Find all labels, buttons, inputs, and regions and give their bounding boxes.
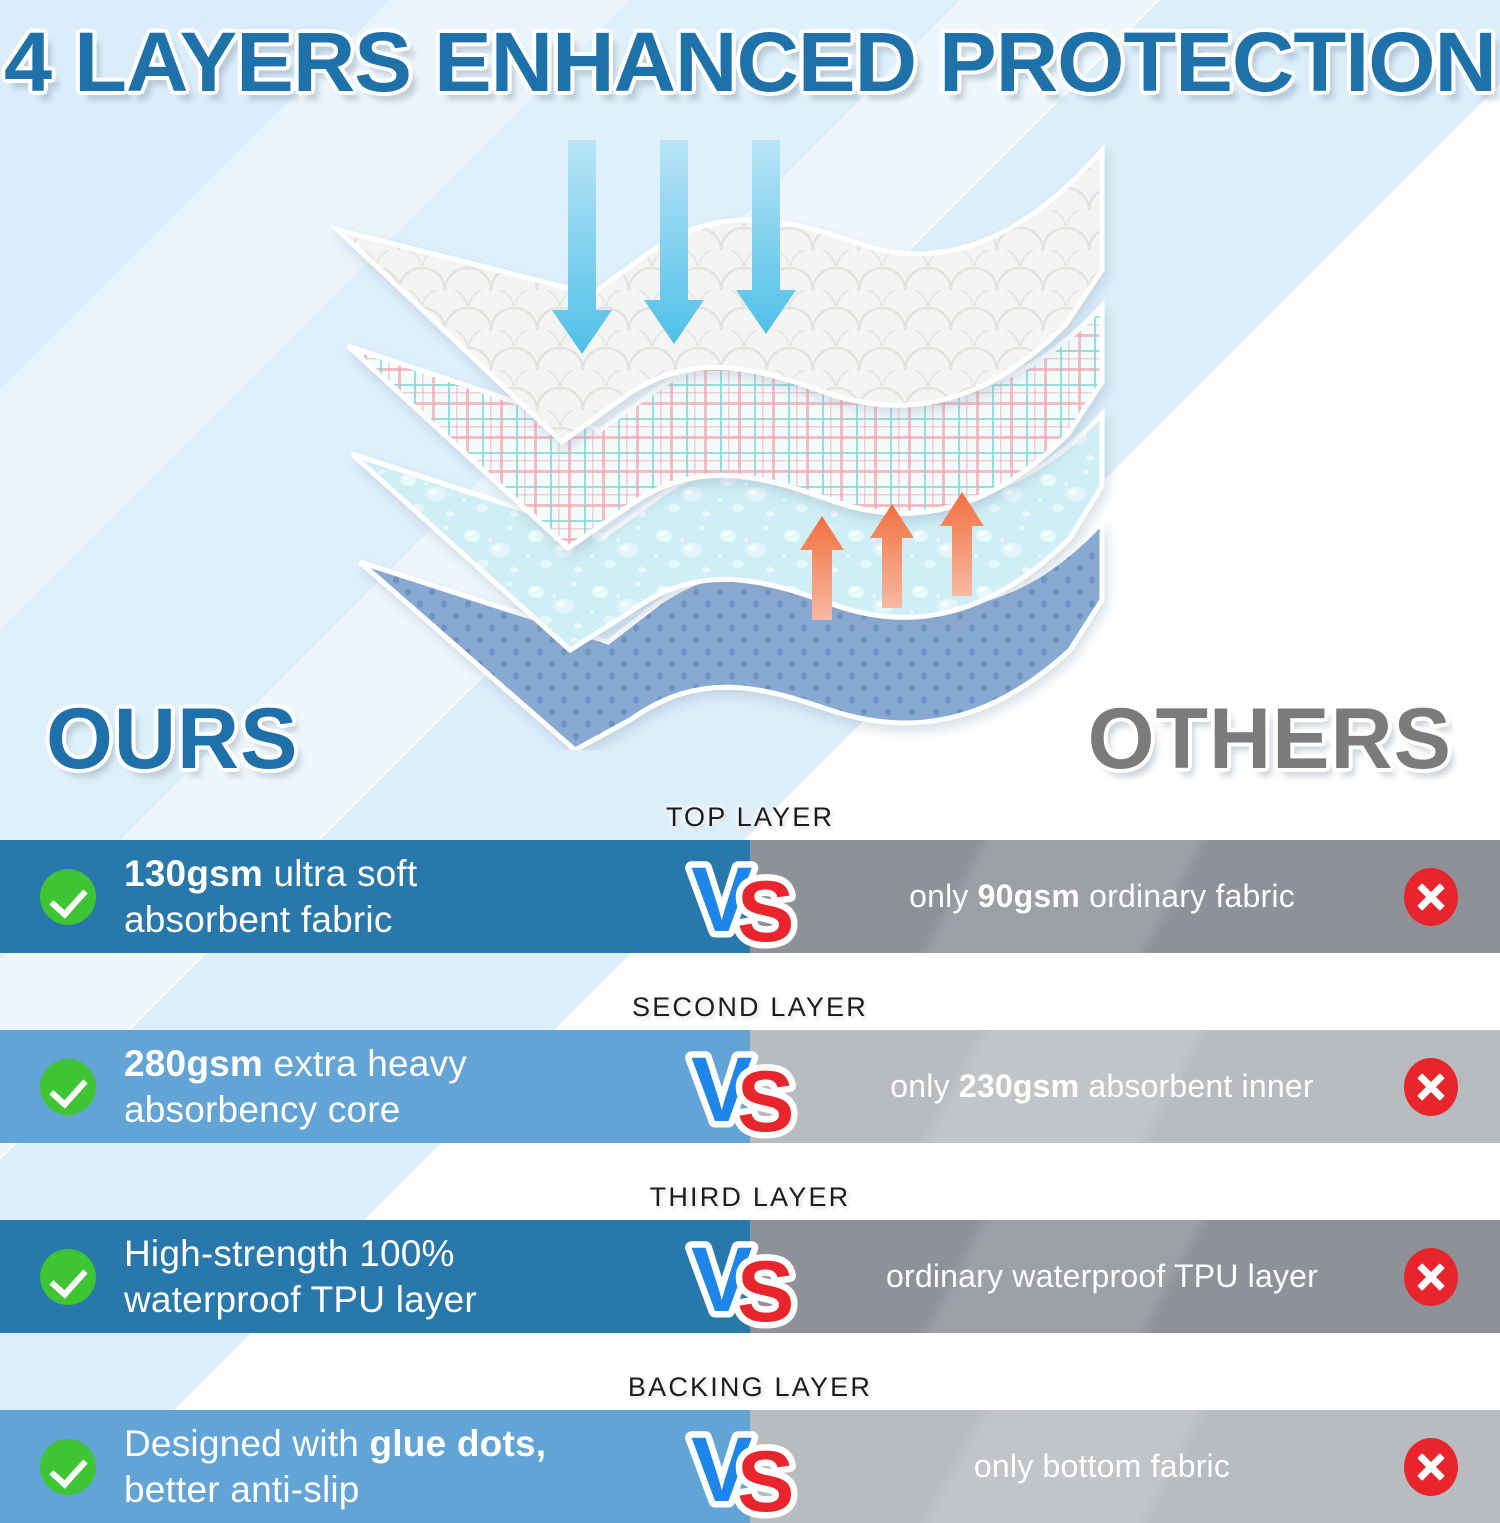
layer-label: BACKING LAYER: [628, 1365, 872, 1410]
red-x-icon: [1404, 868, 1458, 926]
absorption-down-arrows: [552, 140, 796, 354]
others-text: only 90gsm ordinary fabric: [750, 878, 1404, 915]
table-row: 280gsm extra heavy absorbency core only …: [0, 1030, 1500, 1143]
others-highlight: 230gsm: [959, 1068, 1079, 1104]
ours-text: Designed with glue dots, better anti-sli…: [124, 1421, 546, 1511]
ours-cell: 130gsm ultra soft absorbent fabric: [0, 840, 750, 953]
row-gap: [0, 953, 1500, 985]
row-gap: [0, 1143, 1500, 1175]
ours-heading: OURS: [46, 690, 298, 789]
others-text: only bottom fabric: [750, 1448, 1404, 1485]
green-check-icon: [40, 1439, 96, 1495]
layer-label: SECOND LAYER: [632, 985, 868, 1030]
ours-text: 280gsm extra heavy absorbency core: [124, 1041, 467, 1131]
ours-cell: Designed with glue dots, better anti-sli…: [0, 1410, 750, 1523]
ours-line2: absorbent fabric: [124, 897, 417, 942]
others-cell: only bottom fabric: [750, 1410, 1500, 1523]
four-layer-fabric-diagram: [330, 130, 1130, 750]
ours-rest: Designed with: [124, 1423, 370, 1464]
others-pre: only bottom fabric: [974, 1448, 1230, 1484]
others-post: absorbent inner: [1079, 1068, 1313, 1104]
red-x-icon: [1404, 1438, 1458, 1496]
table-row: High-strength 100% waterproof TPU layer …: [0, 1220, 1500, 1333]
table-row: 130gsm ultra soft absorbent fabric only …: [0, 840, 1500, 953]
comparison-table: TOP LAYER 130gsm ultra soft absorbent fa…: [0, 795, 1500, 1523]
red-x-icon: [1404, 1248, 1458, 1306]
ours-line2: better anti-slip: [124, 1467, 546, 1512]
row-gap: [0, 1333, 1500, 1365]
layer-band-third: THIRD LAYER: [0, 1175, 1500, 1220]
layer-band-top: TOP LAYER: [0, 795, 1500, 840]
ours-highlight: High-strength 100%: [124, 1233, 455, 1274]
ours-rest: ultra soft: [263, 853, 417, 894]
green-check-icon: [40, 1249, 96, 1305]
page-title: 4 LAYERS ENHANCED PROTECTION: [0, 14, 1500, 111]
ours-highlight: 280gsm: [124, 1043, 263, 1084]
layer-band-backing: BACKING LAYER: [0, 1365, 1500, 1410]
others-heading: OTHERS: [1088, 690, 1452, 789]
others-text: only 230gsm absorbent inner: [750, 1068, 1404, 1105]
ours-highlight: glue dots,: [370, 1423, 547, 1464]
layer-label: THIRD LAYER: [650, 1175, 851, 1220]
ours-line2: absorbency core: [124, 1087, 467, 1132]
green-check-icon: [40, 869, 96, 925]
red-x-icon: [1404, 1058, 1458, 1116]
ours-text: High-strength 100% waterproof TPU layer: [124, 1231, 477, 1321]
others-cell: only 230gsm absorbent inner: [750, 1030, 1500, 1143]
ours-text: 130gsm ultra soft absorbent fabric: [124, 851, 417, 941]
others-cell: ordinary waterproof TPU layer: [750, 1220, 1500, 1333]
others-pre: only: [890, 1068, 959, 1104]
others-highlight: 90gsm: [978, 878, 1080, 914]
others-pre: ordinary waterproof TPU layer: [886, 1258, 1318, 1294]
ours-cell: High-strength 100% waterproof TPU layer: [0, 1220, 750, 1333]
others-text: ordinary waterproof TPU layer: [750, 1258, 1404, 1295]
layer-band-second: SECOND LAYER: [0, 985, 1500, 1030]
others-cell: only 90gsm ordinary fabric: [750, 840, 1500, 953]
others-post: ordinary fabric: [1080, 878, 1295, 914]
ours-cell: 280gsm extra heavy absorbency core: [0, 1030, 750, 1143]
ours-highlight: 130gsm: [124, 853, 263, 894]
green-check-icon: [40, 1059, 96, 1115]
ours-line2: waterproof TPU layer: [124, 1277, 477, 1322]
table-row: Designed with glue dots, better anti-sli…: [0, 1410, 1500, 1523]
ours-rest: extra heavy: [263, 1043, 467, 1084]
others-pre: only: [909, 878, 978, 914]
layer-label: TOP LAYER: [666, 795, 834, 840]
